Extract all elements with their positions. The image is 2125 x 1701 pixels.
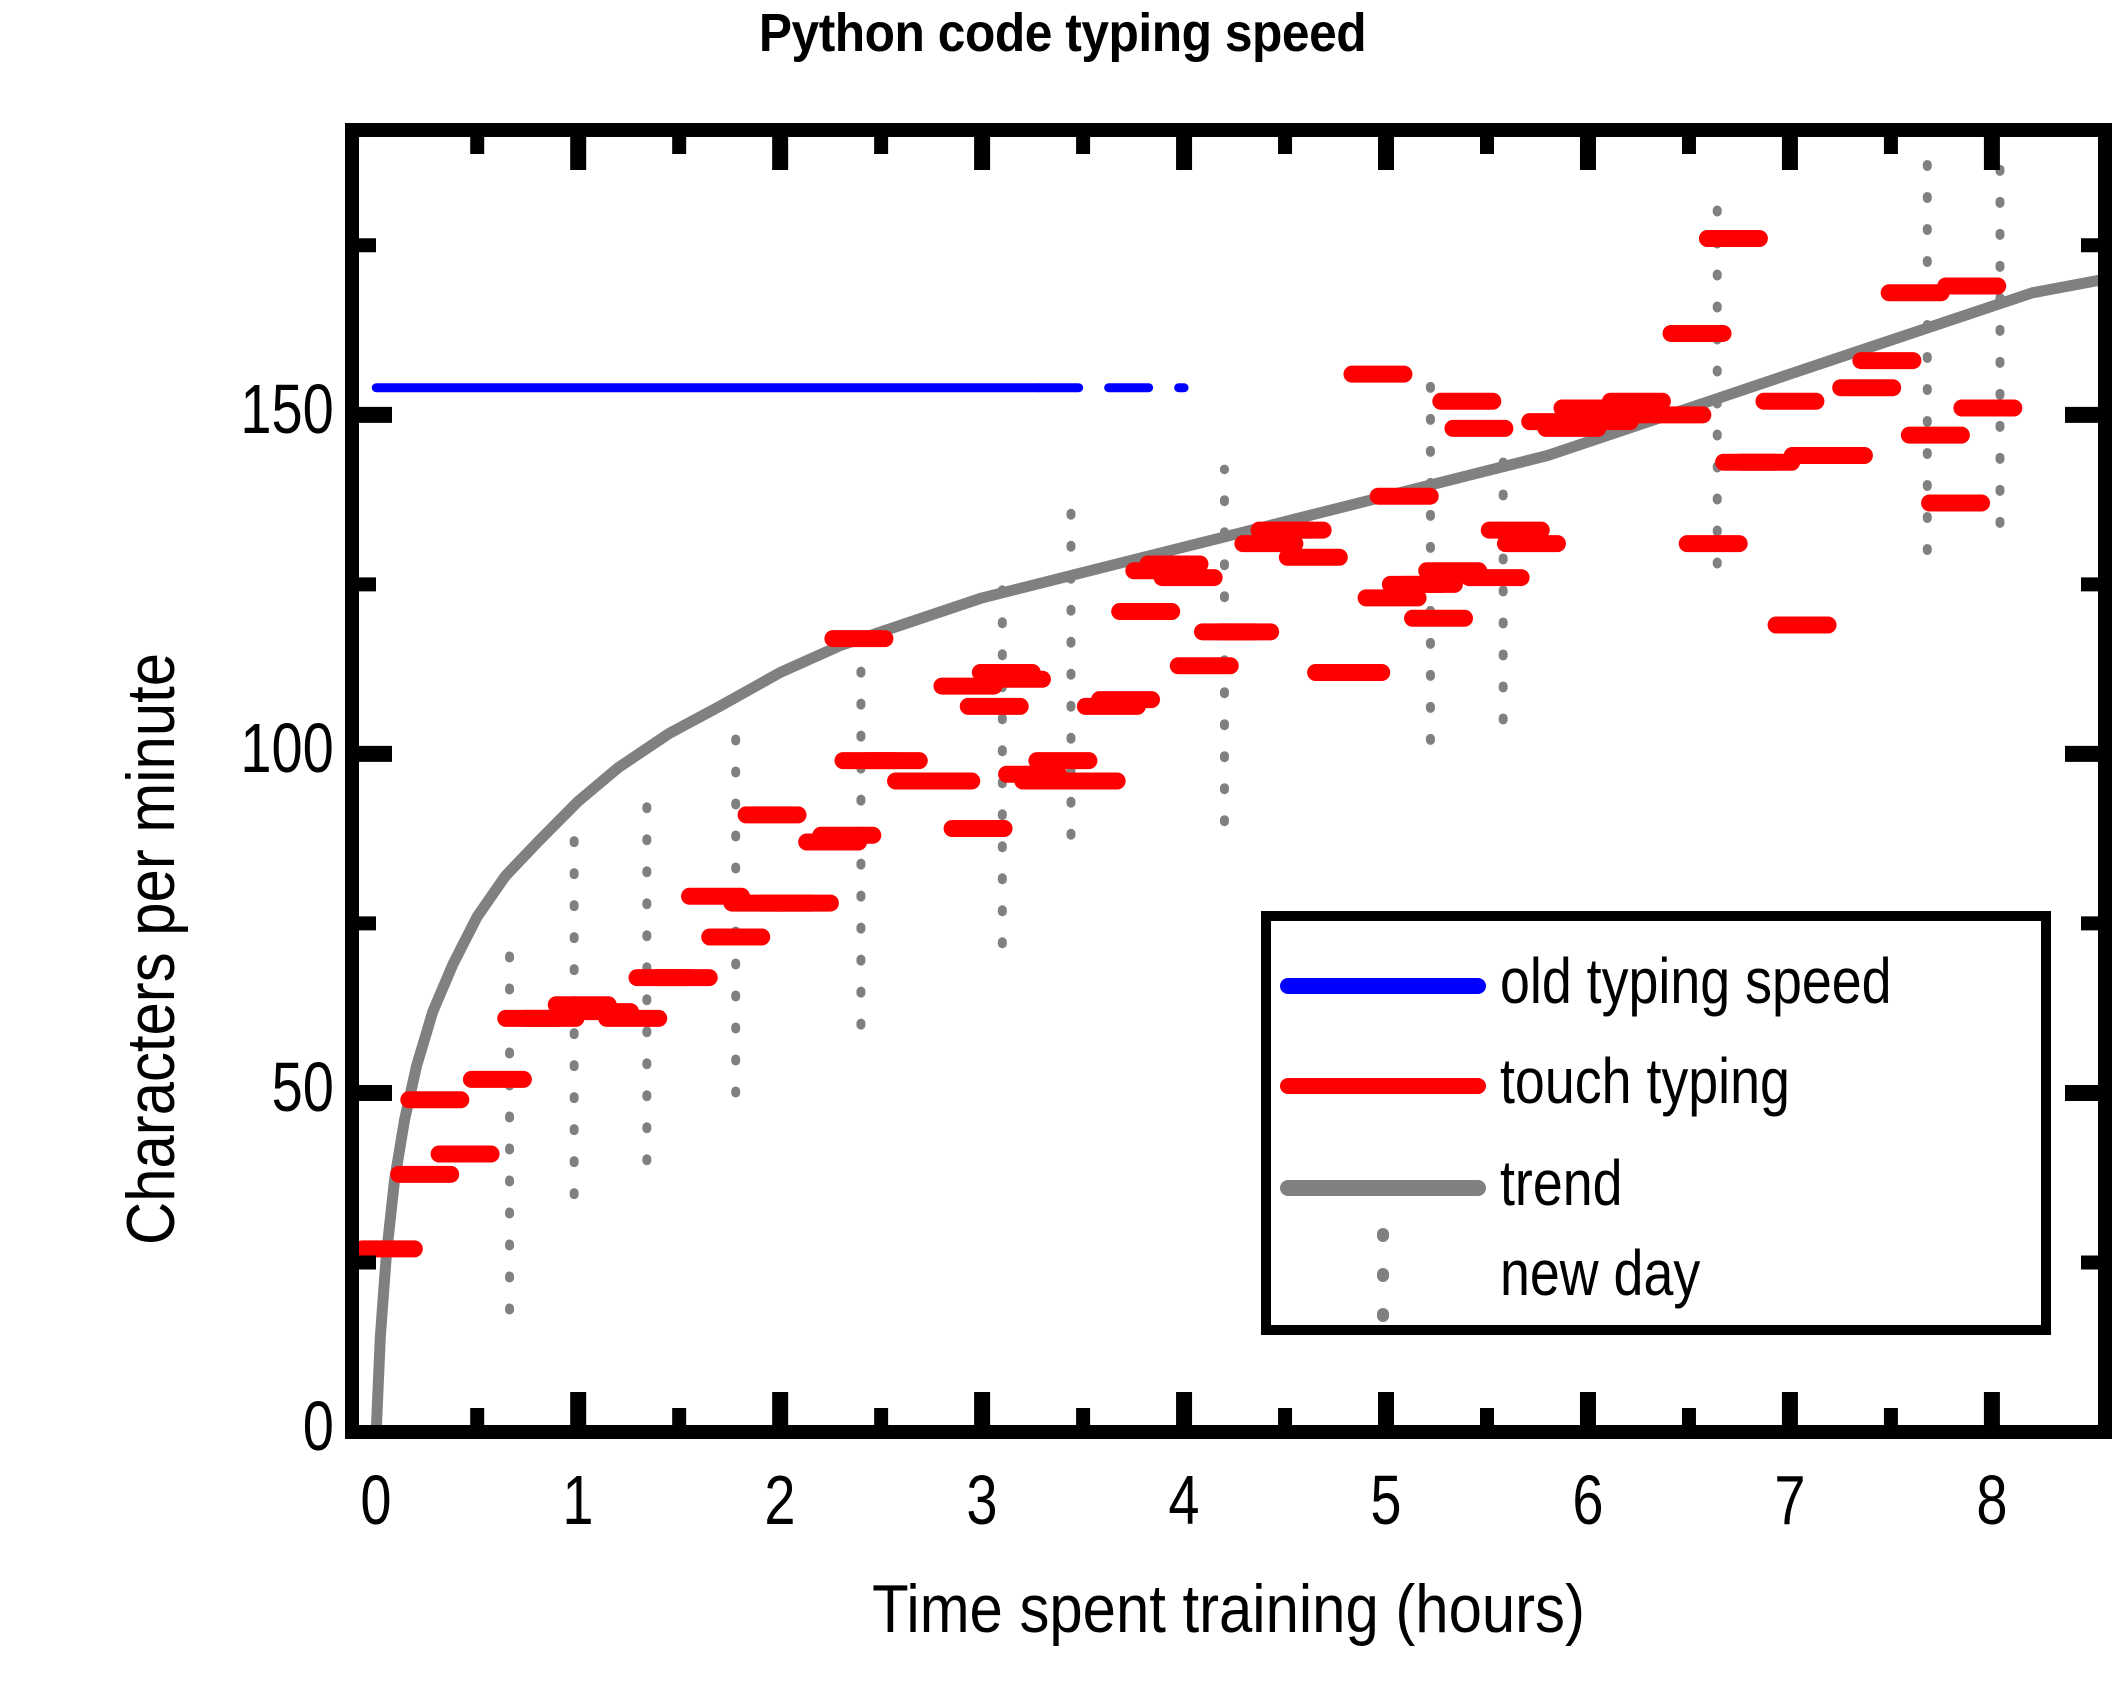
x-tick-label: 3 bbox=[934, 1460, 1030, 1540]
y-tick-label: 50 bbox=[272, 1047, 334, 1127]
chart-figure: Python code typing speed 050100150012345… bbox=[0, 0, 2125, 1701]
y-tick-label: 0 bbox=[303, 1386, 334, 1466]
x-tick-label: 8 bbox=[1944, 1460, 2040, 1540]
y-tick-label: 100 bbox=[241, 708, 334, 788]
legend-label-old-typing-speed[interactable]: old typing speed bbox=[1500, 944, 1892, 1018]
x-tick-label: 1 bbox=[530, 1460, 626, 1540]
x-tick-label: 6 bbox=[1540, 1460, 1636, 1540]
legend-label-trend[interactable]: trend bbox=[1500, 1146, 1623, 1220]
x-tick-label: 7 bbox=[1742, 1460, 1838, 1540]
legend-label-touch-typing[interactable]: touch typing bbox=[1500, 1044, 1790, 1118]
x-tick-label: 2 bbox=[732, 1460, 828, 1540]
x-axis-label: Time spent training (hours) bbox=[457, 1570, 2000, 1648]
y-axis-label: Characters per minute bbox=[112, 653, 190, 1245]
legend-label-new-day[interactable]: new day bbox=[1500, 1236, 1700, 1310]
x-tick-label: 4 bbox=[1136, 1460, 1232, 1540]
y-tick-label: 150 bbox=[241, 369, 334, 449]
x-tick-label: 5 bbox=[1338, 1460, 1434, 1540]
x-tick-label: 0 bbox=[328, 1460, 424, 1540]
